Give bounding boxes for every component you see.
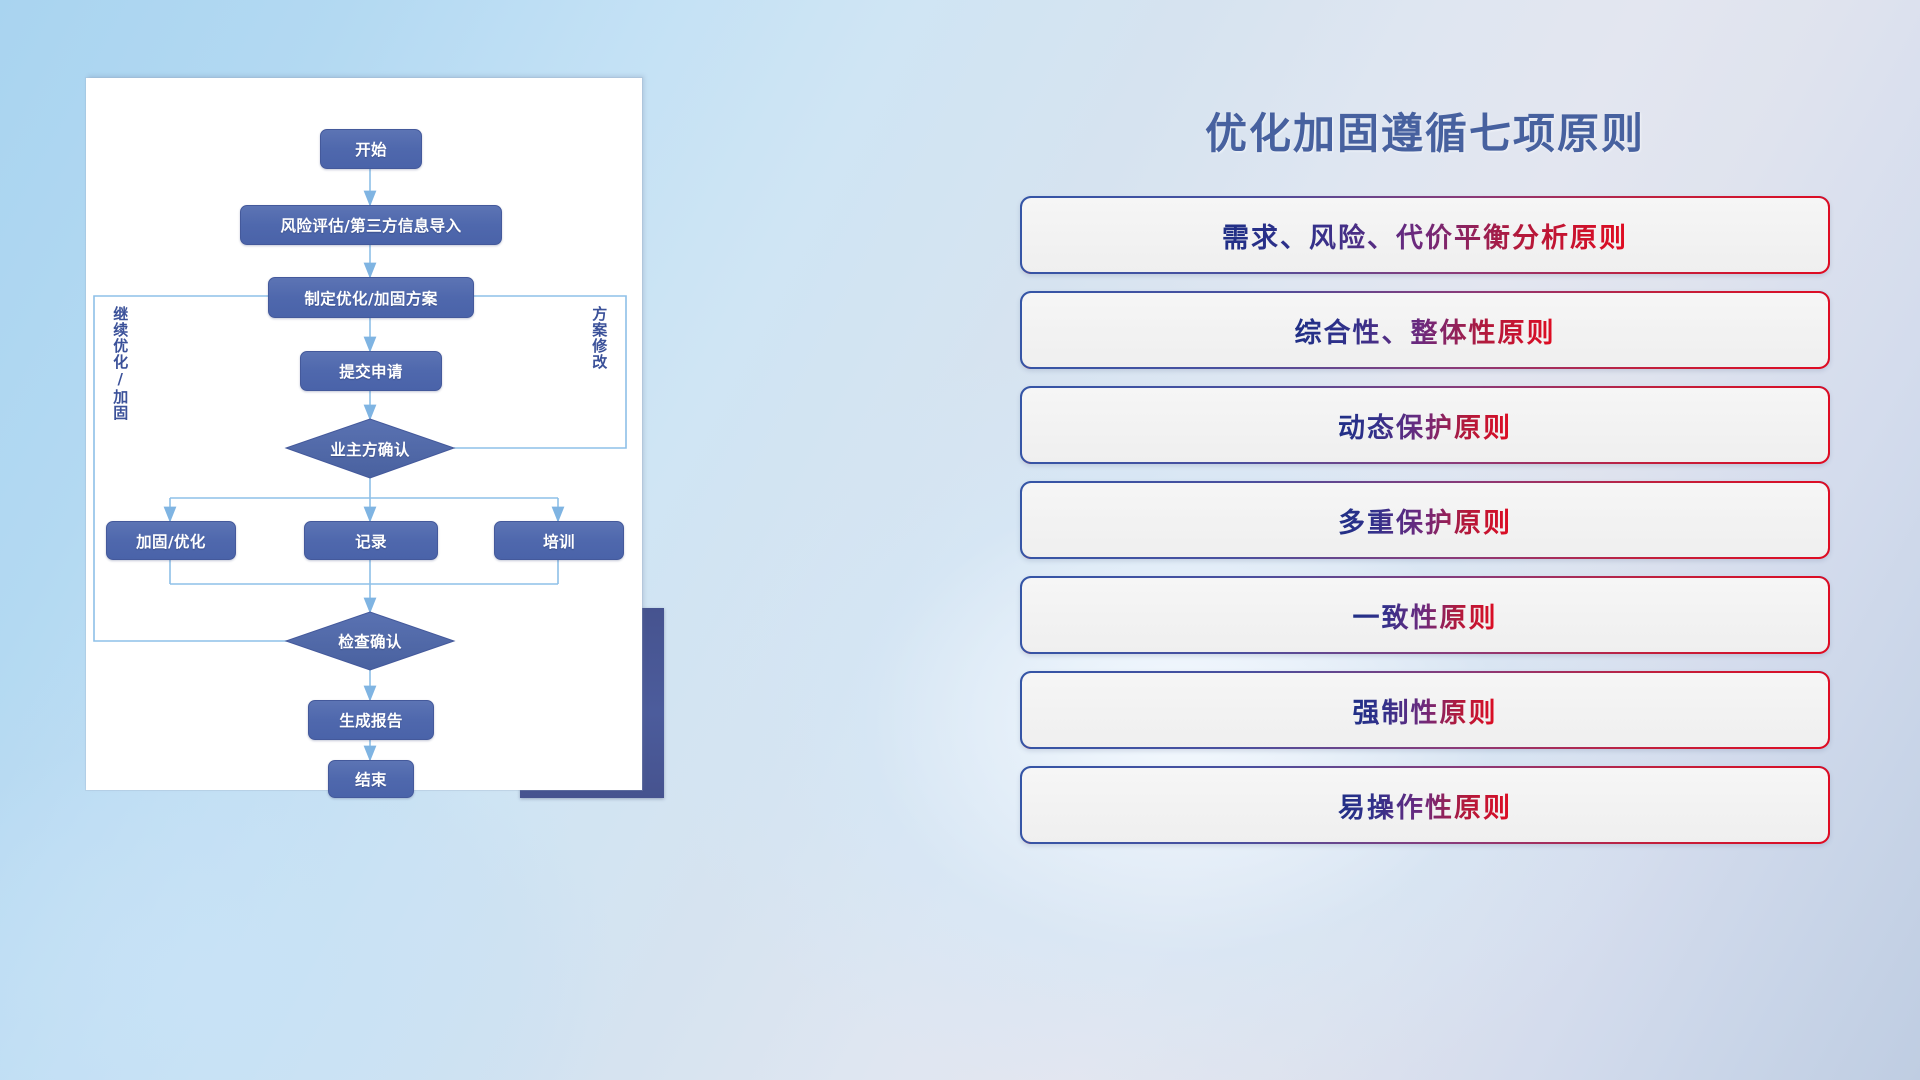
- principles-list: 需求、风险、代价平衡分析原则 综合性、整体性原则 动态保护原则 多重保护原则 一…: [1020, 196, 1830, 861]
- principle-label: 强制性原则: [1353, 691, 1498, 730]
- principle-item-4[interactable]: 多重保护原则: [1020, 481, 1830, 559]
- flowchart-card: 继续优化/加固 方案修改 开始 风险评估/第三方信息导入 制定优化/加固方案 提…: [86, 78, 642, 790]
- edge-label-plan-revision: 方案修改: [591, 306, 606, 370]
- flow-node-record[interactable]: 记录: [304, 521, 438, 560]
- principle-label: 易操作性原则: [1338, 786, 1512, 825]
- slide-canvas: 继续优化/加固 方案修改 开始 风险评估/第三方信息导入 制定优化/加固方案 提…: [0, 0, 1920, 1080]
- flow-node-submit-application[interactable]: 提交申请: [300, 351, 442, 391]
- flowchart-panel: 继续优化/加固 方案修改 开始 风险评估/第三方信息导入 制定优化/加固方案 提…: [86, 78, 642, 790]
- principles-panel: 优化加固遵循七项原则 需求、风险、代价平衡分析原则 综合性、整体性原则 动态保护…: [1020, 78, 1830, 1018]
- flow-node-generate-report[interactable]: 生成报告: [308, 700, 434, 740]
- flow-node-make-plan[interactable]: 制定优化/加固方案: [268, 277, 474, 318]
- principle-label: 动态保护原则: [1338, 406, 1512, 445]
- principle-label: 多重保护原则: [1338, 501, 1512, 540]
- principle-item-6[interactable]: 强制性原则: [1020, 671, 1830, 749]
- edge-label-continue-optimize: 继续优化/加固: [112, 306, 127, 421]
- page-title: 优化加固遵循七项原则: [1020, 100, 1830, 161]
- flow-node-end[interactable]: 结束: [328, 760, 414, 798]
- flow-node-risk-assessment[interactable]: 风险评估/第三方信息导入: [240, 205, 502, 245]
- principle-item-5[interactable]: 一致性原则: [1020, 576, 1830, 654]
- principle-item-3[interactable]: 动态保护原则: [1020, 386, 1830, 464]
- decision-inspection-confirm: [286, 612, 454, 670]
- principle-item-1[interactable]: 需求、风险、代价平衡分析原则: [1020, 196, 1830, 274]
- principle-label: 一致性原则: [1353, 596, 1498, 635]
- flow-node-reinforce-optimize[interactable]: 加固/优化: [106, 521, 236, 560]
- principle-label: 综合性、整体性原则: [1295, 311, 1556, 350]
- flow-node-training[interactable]: 培训: [494, 521, 624, 560]
- principle-item-7[interactable]: 易操作性原则: [1020, 766, 1830, 844]
- flow-node-start[interactable]: 开始: [320, 129, 422, 169]
- principle-label: 需求、风险、代价平衡分析原则: [1222, 216, 1628, 255]
- decision-owner-confirm: [286, 419, 454, 478]
- principle-item-2[interactable]: 综合性、整体性原则: [1020, 291, 1830, 369]
- flowchart-connectors: [86, 78, 642, 790]
